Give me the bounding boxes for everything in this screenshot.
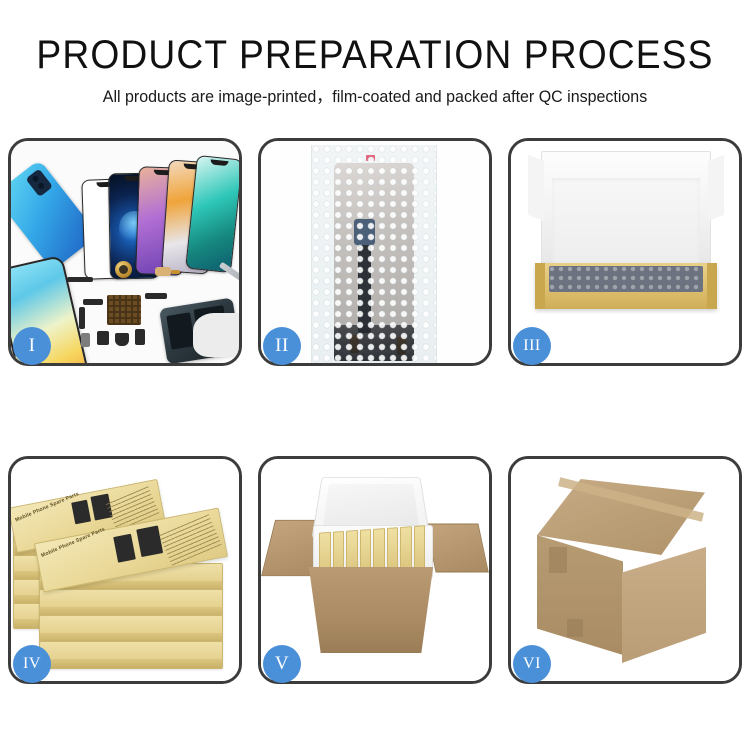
part-gold-icon: [171, 270, 180, 274]
panel-2-image: [261, 141, 489, 363]
lid-flap-left: [528, 155, 544, 221]
panel-5-image: [261, 459, 489, 681]
lid-inner-surface: [552, 178, 700, 270]
carton-body-icon: [297, 567, 445, 653]
step-badge-1: I: [13, 327, 51, 365]
tweezers-icon: [219, 262, 239, 290]
carton-tab-upper: [549, 547, 567, 573]
page-title: PRODUCT PREPARATION PROCESS: [26, 32, 724, 78]
kraft-tray-icon: [535, 263, 717, 309]
box-label-text-back: Mobile Phone Spare Parts: [14, 491, 80, 523]
part-tan-icon: [155, 267, 171, 276]
part-flex-icon: [83, 299, 103, 305]
header: PRODUCT PREPARATION PROCESS All products…: [0, 0, 750, 108]
part-sim-tray-icon: [81, 333, 90, 347]
part-cable-icon: [79, 307, 85, 329]
part-connector-icon: [145, 293, 167, 299]
process-panel-6[interactable]: VI: [508, 456, 742, 684]
bubble-wrap-bag: [311, 145, 437, 363]
carton-right-face: [622, 547, 706, 663]
page-subtitle: All products are image-printed，film-coat…: [11, 86, 739, 108]
process-panel-5[interactable]: V: [258, 456, 492, 684]
lid-flap-right: [708, 155, 724, 221]
part-strip-icon: [67, 277, 93, 282]
part-block-icon: [135, 329, 145, 345]
part-bracket-icon: [97, 331, 109, 345]
box-lid-icon: [541, 151, 711, 271]
bubble-wrapped-contents: [549, 266, 703, 292]
process-panel-3[interactable]: III: [508, 138, 742, 366]
part-cap-icon: [115, 333, 129, 346]
process-steps-grid: I II: [8, 138, 742, 684]
product-preparation-page: PRODUCT PREPARATION PROCESS All products…: [0, 0, 750, 750]
bubble-texture: [312, 145, 436, 363]
panel-6-image: [511, 459, 739, 681]
step-badge-3: III: [513, 327, 551, 365]
step-badge-5: V: [263, 645, 301, 683]
panel-1-image: [11, 141, 239, 363]
process-panel-2[interactable]: II: [258, 138, 492, 366]
process-panel-1[interactable]: I: [8, 138, 242, 366]
camera-module-icon: [25, 169, 53, 198]
sealed-carton-icon: [525, 473, 721, 669]
process-panel-4[interactable]: Mobile Phone Spare Parts Mobile Phone Sp…: [8, 456, 242, 684]
step-badge-4: IV: [13, 645, 51, 683]
step-badge-6: VI: [513, 645, 551, 683]
speaker-part-icon: [115, 261, 132, 278]
chip-grid-icon: [107, 295, 141, 325]
step-badge-2: II: [263, 327, 301, 365]
panel-3-image: [511, 141, 739, 363]
box-stack: Mobile Phone Spare Parts Mobile Phone Sp…: [11, 459, 239, 681]
carton-tab-lower: [567, 619, 583, 637]
hand-icon: [193, 313, 239, 357]
carton-flap-right: [425, 524, 489, 573]
panel-4-image: Mobile Phone Spare Parts Mobile Phone Sp…: [11, 459, 239, 681]
